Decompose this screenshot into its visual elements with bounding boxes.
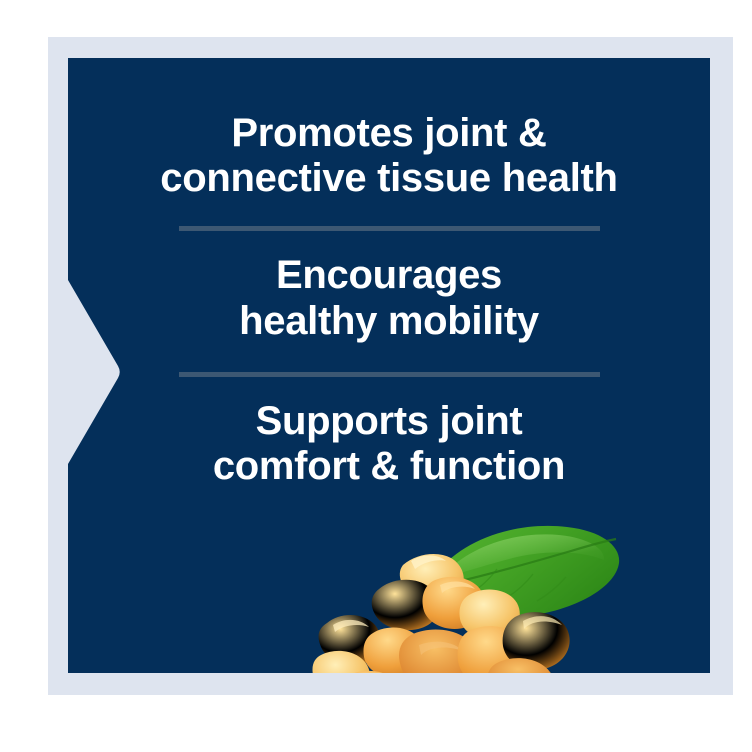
benefits-card-stage: Promotes joint & connective tissue healt… [0,0,752,752]
benefit-healthy-mobility: Encourages healthy mobility [68,253,710,343]
benefit-divider-1 [179,226,600,231]
benefits-content: Promotes joint & connective tissue healt… [68,58,710,673]
benefit-divider-2 [179,372,600,377]
benefit-joint-comfort-function: Supports joint comfort & function [68,399,710,489]
benefit-joint-connective-tissue: Promotes joint & connective tissue healt… [68,111,710,201]
